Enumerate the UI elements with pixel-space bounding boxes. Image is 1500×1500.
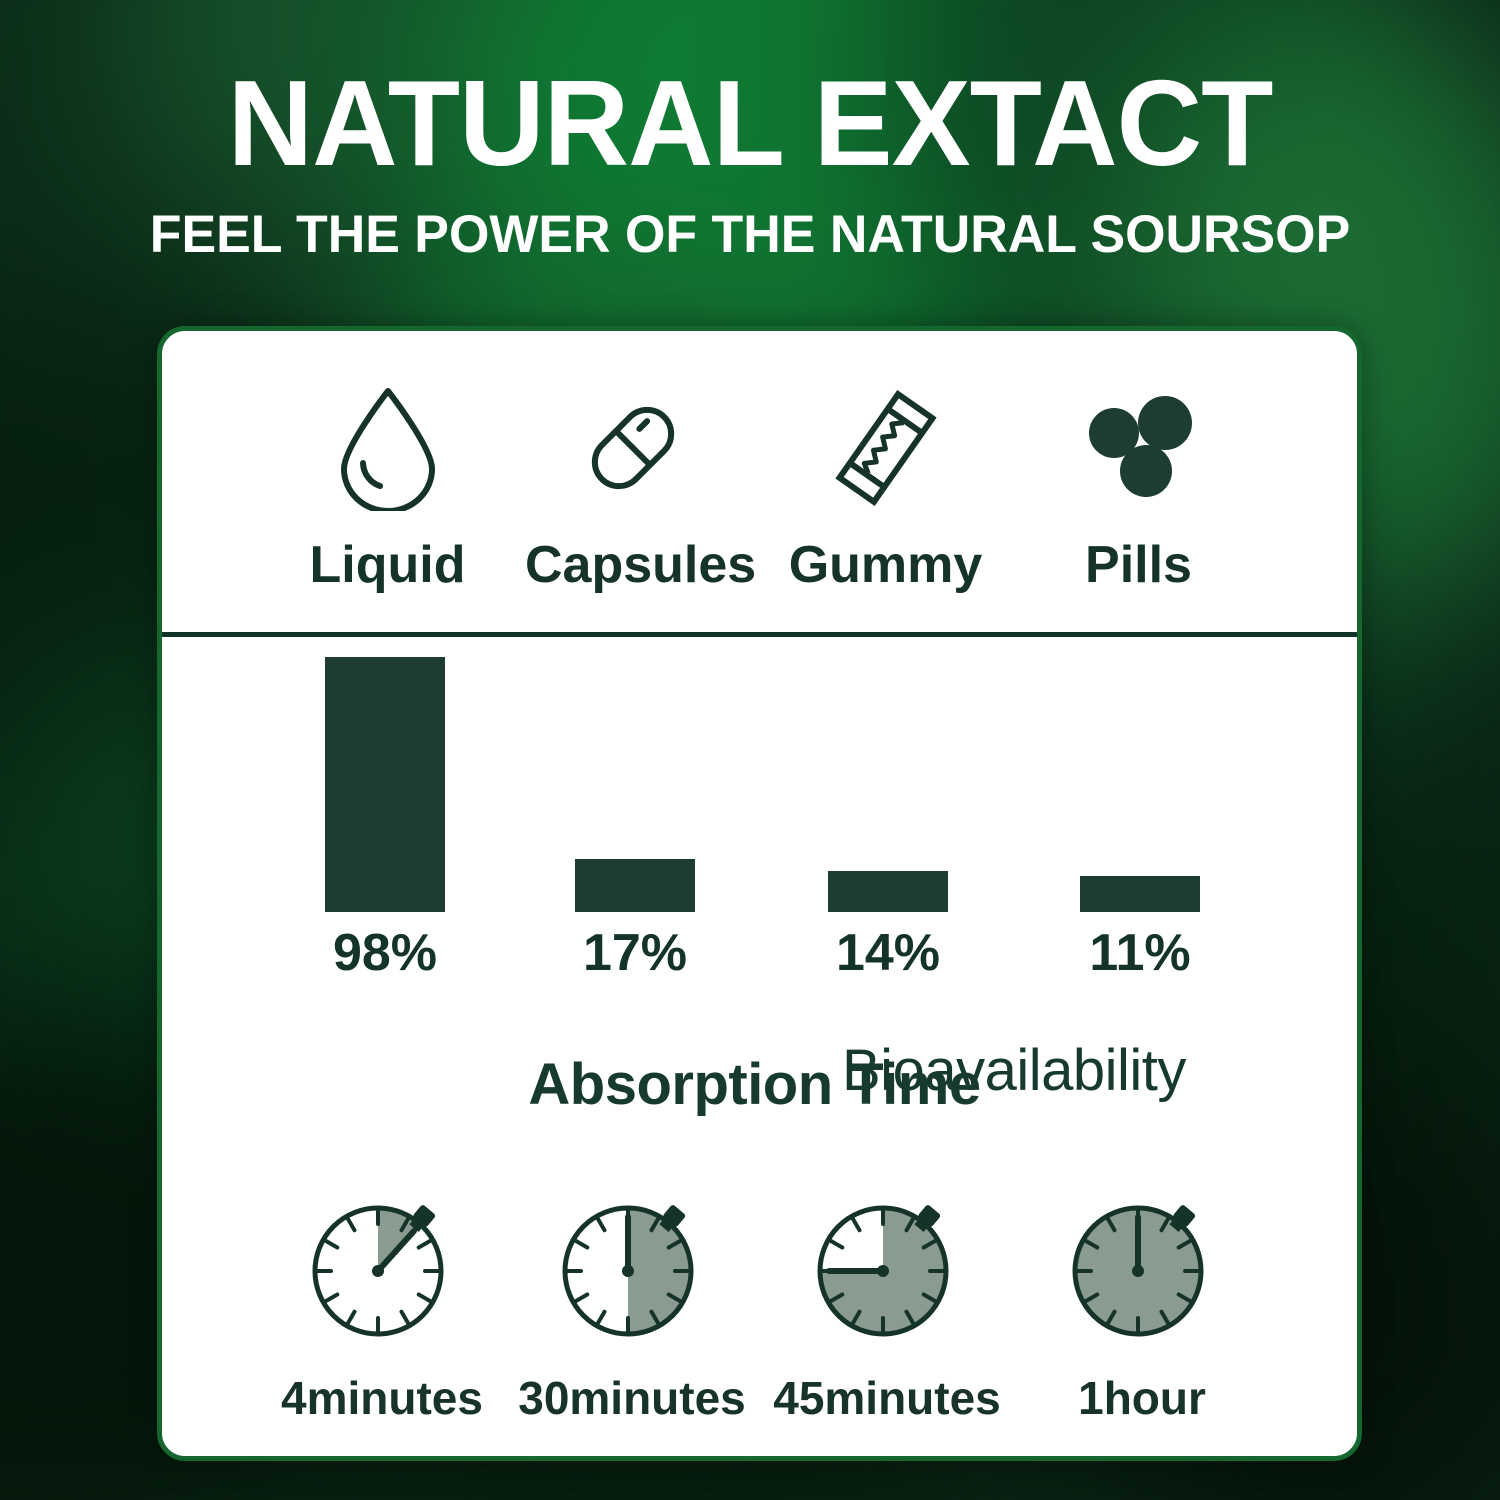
form-label: Gummy [778,535,993,595]
bar-value-gummy: 14% [828,923,948,983]
bioavailability-chart: 98% 17% 14% 11% Bioavailability [162,637,1357,1017]
absorption-item-liquid: 4minutes [257,1179,507,1425]
form-item-pills: Pills [1031,383,1246,595]
absorption-label: 4minutes [257,1371,507,1425]
bar-value-pills: 11% [1080,923,1200,983]
page-title: NATURAL EXTACT [23,62,1478,184]
bar-liquid [325,657,445,912]
stopwatch-icon [507,1179,757,1349]
form-item-gummy: Gummy [778,383,993,595]
absorption-item-pills: 1hour [1017,1179,1267,1425]
absorption-label: 45minutes [762,1371,1012,1425]
header: NATURAL EXTACT FEEL THE POWER OF THE NAT… [0,62,1500,261]
absorption-label: 30minutes [507,1371,757,1425]
absorption-item-gummy: 45minutes [762,1179,1012,1425]
form-label: Liquid [280,535,495,595]
bar-gummy [828,871,948,912]
stopwatch-icon [1017,1179,1267,1349]
capsule-icon [525,383,740,513]
form-label: Capsules [525,535,740,595]
form-item-capsules: Capsules [525,383,740,595]
form-item-liquid: Liquid [280,383,495,595]
info-card: Liquid Capsules [157,326,1362,1461]
bar-capsules [575,859,695,912]
droplet-icon [280,383,495,513]
form-label: Pills [1031,535,1246,595]
delivery-forms-row: Liquid Capsules [162,331,1357,633]
bar-value-capsules: 17% [575,923,695,983]
absorption-label: 1hour [1017,1371,1267,1425]
stopwatch-icon [762,1179,1012,1349]
absorption-item-capsules: 30minutes [507,1179,757,1425]
page-subtitle: FEEL THE POWER OF THE NATURAL SOURSOP [15,208,1485,261]
gummy-sachet-icon [778,383,993,513]
stopwatch-icon [257,1179,507,1349]
bar-value-liquid: 98% [325,923,445,983]
absorption-time-row: 4minutes [162,1179,1357,1419]
absorption-time-title: Absorption Time [162,1051,1357,1118]
bar-pills [1080,876,1200,912]
infographic-root: NATURAL EXTACT FEEL THE POWER OF THE NAT… [0,0,1500,1500]
pills-icon [1031,383,1246,513]
